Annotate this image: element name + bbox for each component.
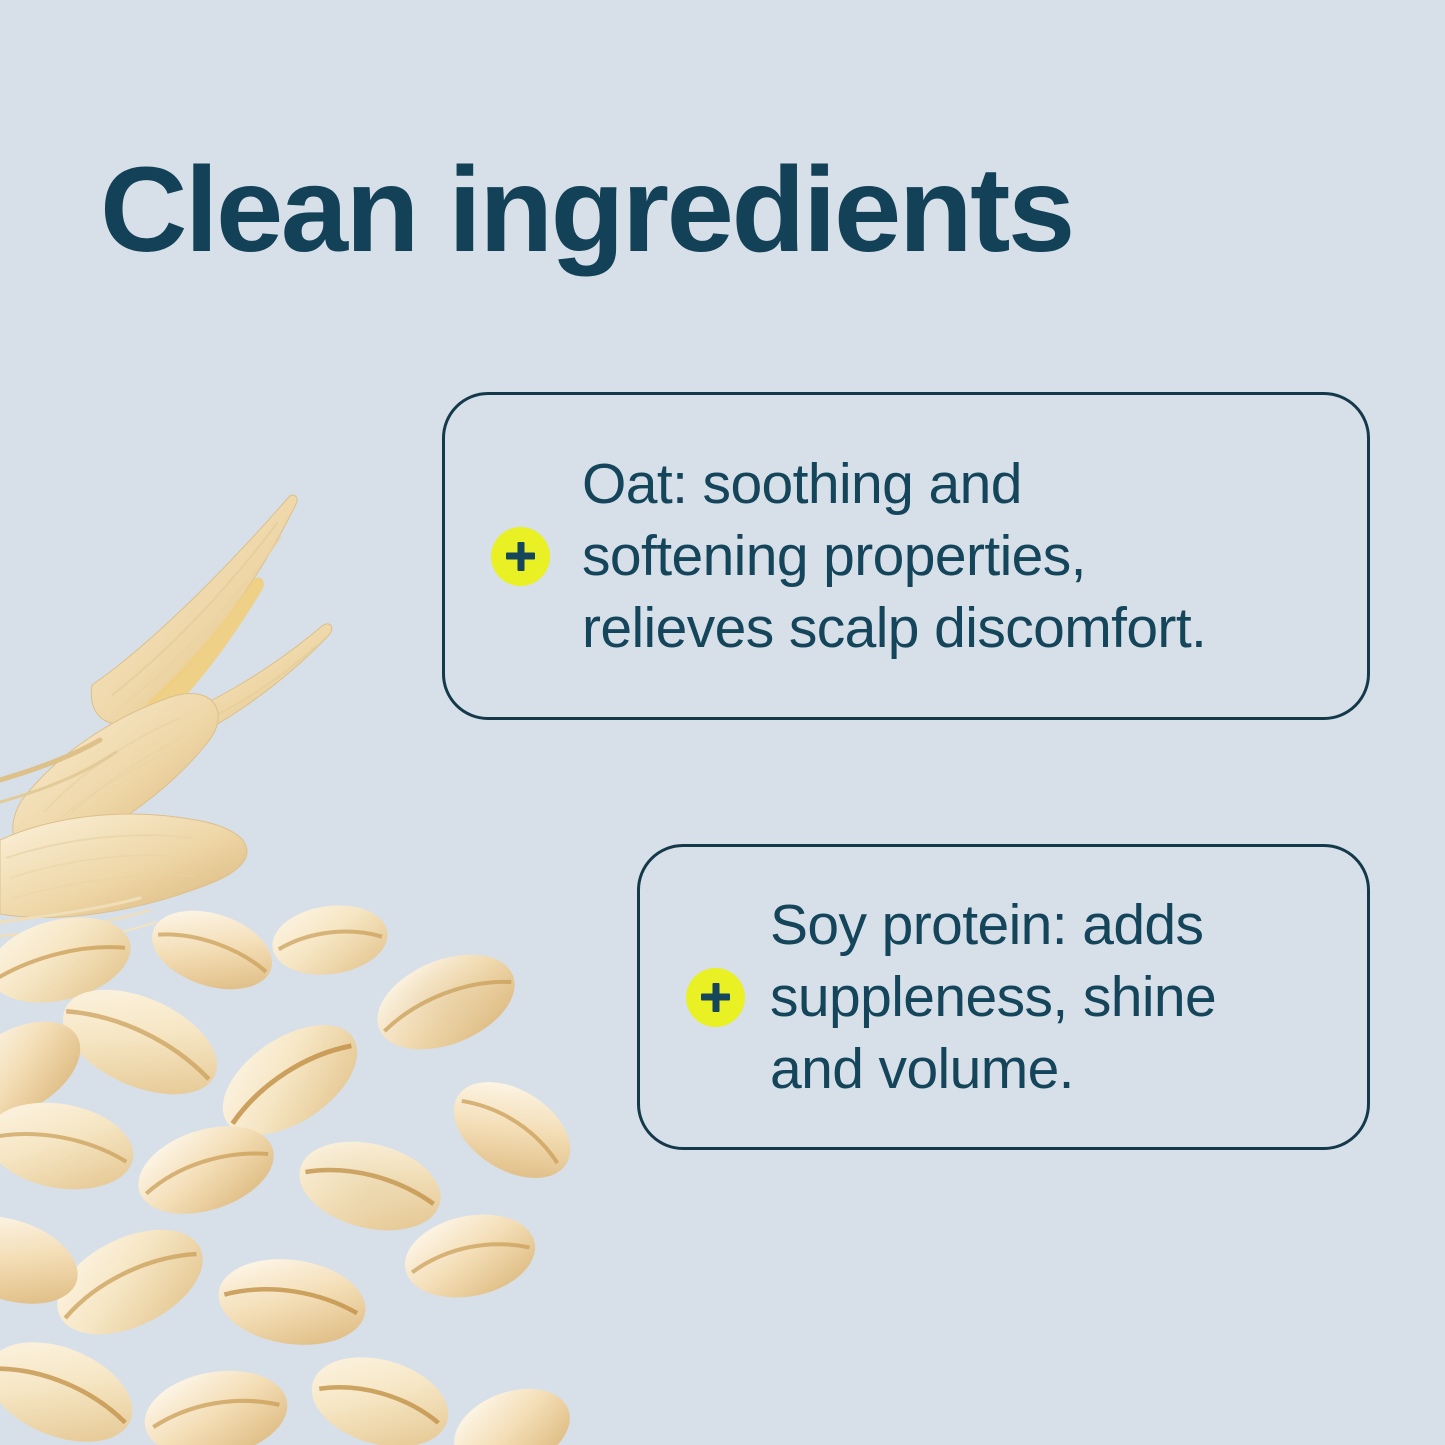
- ingredient-card-soy-text: Soy protein: adds suppleness, shine and …: [770, 889, 1367, 1105]
- ingredients-poster: Clean ingredients: [0, 0, 1445, 1445]
- ingredient-card-oat-text: Oat: soothing and softening properties, …: [582, 448, 1367, 664]
- plus-icon: [491, 527, 550, 586]
- plus-icon: [686, 968, 745, 1027]
- ingredient-card-soy[interactable]: Soy protein: adds suppleness, shine and …: [637, 844, 1370, 1150]
- page-title: Clean ingredients: [100, 143, 1073, 276]
- ingredient-card-oat[interactable]: Oat: soothing and softening properties, …: [442, 392, 1370, 720]
